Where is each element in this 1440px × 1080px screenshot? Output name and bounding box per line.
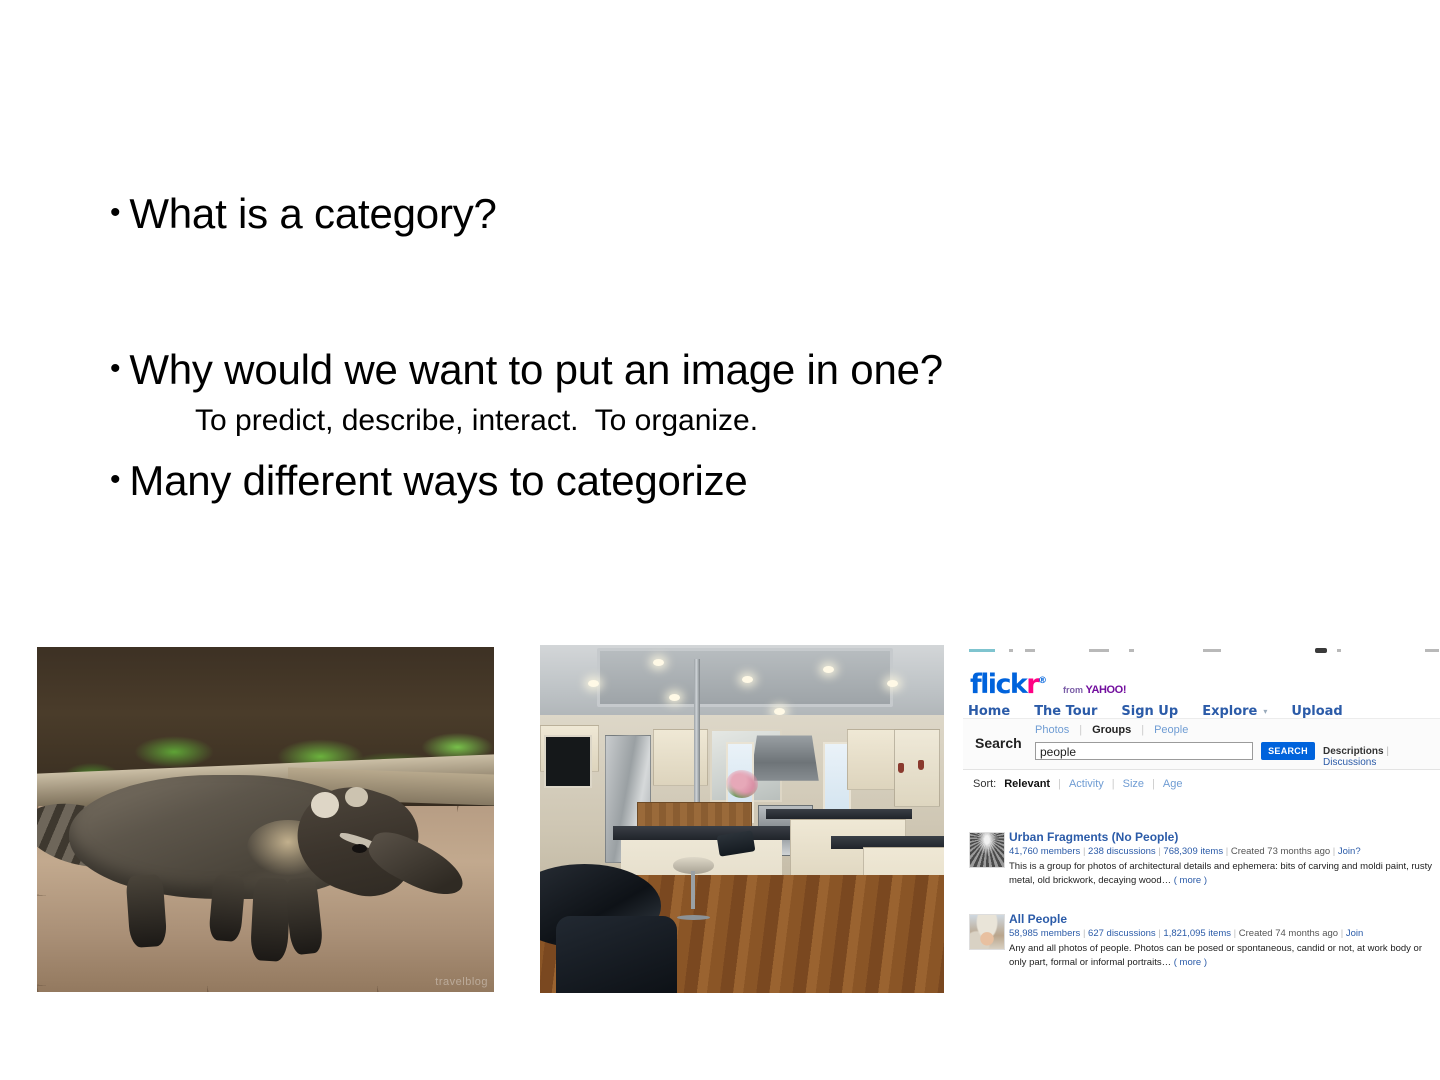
flickr-logo[interactable]: flickr® [970, 669, 1047, 700]
tab-separator: | [1079, 724, 1082, 736]
dining-chair [556, 916, 677, 993]
group-thumbnail-icon[interactable] [969, 832, 1005, 868]
tab-separator: | [1141, 724, 1144, 736]
link-separator: | [1386, 746, 1389, 757]
coati-ear [311, 792, 338, 818]
group-created-date: Created 73 months ago [1231, 846, 1330, 857]
recessed-light [653, 659, 664, 666]
tab-groups[interactable]: Groups [1092, 724, 1131, 736]
decorative-vase [918, 760, 924, 770]
group-title-link[interactable]: Urban Fragments (No People) [1009, 830, 1439, 845]
photo-flickr-group-search-screenshot: flickr® from YAHOO! Home The Tour Sign U… [963, 646, 1440, 993]
meta-separator: | [1158, 846, 1160, 857]
group-description-text: This is a group for photos of architectu… [1009, 861, 1432, 886]
upper-cabinet [847, 729, 897, 790]
bullet-text-3: Many different ways to categorize [129, 457, 1290, 505]
flickr-search-bar: Search Photos | Groups | People people S… [963, 718, 1440, 770]
group-join-link[interactable]: Join [1346, 928, 1363, 939]
sort-row: Sort: Relevant | Activity | Size | Age [973, 778, 1183, 790]
slide-body: • What is a category? • Why would we wan… [110, 190, 1290, 505]
bullet-item-3: • Many different ways to categorize [110, 457, 1290, 505]
search-input[interactable]: people [1035, 742, 1253, 760]
coati-leg [126, 874, 168, 949]
group-result-row[interactable]: Urban Fragments (No People) 41,760 membe… [1009, 830, 1439, 888]
tab-photos[interactable]: Photos [1035, 724, 1069, 736]
spacer-3 [110, 439, 1290, 457]
group-discussions-count[interactable]: 238 discussions [1088, 846, 1156, 857]
sort-separator: | [1112, 778, 1115, 790]
link-discussions[interactable]: Discussions [1323, 757, 1376, 768]
meta-separator: | [1083, 846, 1085, 857]
sort-option-activity[interactable]: Activity [1069, 778, 1104, 790]
group-members-count[interactable]: 41,760 members [1009, 846, 1080, 857]
flickr-logo-blue: flick [970, 669, 1026, 700]
meta-separator: | [1333, 846, 1335, 857]
more-link[interactable]: ( more ) [1174, 957, 1207, 968]
nav-item-the-tour[interactable]: The Tour [1034, 704, 1097, 719]
flickr-logo-pink: r [1026, 669, 1038, 700]
bar-stool [673, 857, 713, 920]
link-descriptions[interactable]: Descriptions [1323, 746, 1384, 757]
recessed-light [823, 666, 834, 673]
toolbar-fragment [969, 649, 995, 652]
counter-top-right [766, 809, 911, 819]
from-yahoo-badge: from YAHOO! [1063, 684, 1126, 696]
toolbar-fragment [1089, 649, 1109, 652]
toolbar-fragment [1337, 649, 1341, 652]
sort-separator: | [1152, 778, 1155, 790]
bullet-marker-icon: • [110, 346, 120, 391]
group-result-row[interactable]: All People 58,985 members | 627 discussi… [1009, 912, 1439, 970]
photo-coati-animal: travelblog [37, 647, 494, 992]
group-description: Any and all photos of people. Photos can… [1009, 942, 1439, 970]
group-items-count[interactable]: 1,821,095 items [1163, 928, 1231, 939]
registered-mark-icon: ® [1038, 676, 1047, 686]
group-title-link[interactable]: All People [1009, 912, 1439, 927]
search-button[interactable]: SEARCH [1261, 742, 1315, 760]
meta-separator: | [1226, 846, 1228, 857]
group-description: This is a group for photos of architectu… [1009, 860, 1439, 888]
kitchen-television [544, 735, 592, 788]
recessed-light [669, 694, 680, 701]
group-join-link[interactable]: Join? [1338, 846, 1361, 857]
photo-kitchen-interior [540, 645, 944, 993]
toolbar-fragment [1425, 649, 1439, 652]
group-meta: 41,760 members | 238 discussions | 768,3… [1009, 845, 1439, 859]
photo-watermark: travelblog [435, 976, 488, 988]
bullet-item-2: • Why would we want to put an image in o… [110, 346, 1290, 394]
toolbar-fragment [1009, 649, 1013, 652]
bullet-text-1: What is a category? [129, 190, 1290, 238]
bullet-text-2: Why would we want to put an image in one… [129, 346, 1290, 394]
spacer-1 [110, 238, 1290, 346]
from-label: from [1063, 685, 1083, 695]
coati-eye [352, 844, 367, 853]
tab-people[interactable]: People [1154, 724, 1188, 736]
sort-option-size[interactable]: Size [1123, 778, 1144, 790]
range-hood [750, 735, 819, 780]
group-discussions-count[interactable]: 627 discussions [1088, 928, 1156, 939]
group-created-date: Created 74 months ago [1239, 928, 1338, 939]
meta-separator: | [1234, 928, 1236, 939]
nav-item-sign-up[interactable]: Sign Up [1121, 704, 1178, 719]
sort-label: Sort: [973, 778, 996, 790]
sub-bullet-text: To predict, describe, interact. To organ… [195, 403, 1290, 439]
bullet-marker-icon: • [110, 457, 120, 502]
group-members-count[interactable]: 58,985 members [1009, 928, 1080, 939]
flickr-main-nav: Home The Tour Sign Up Explore ▾ Upload [968, 704, 1343, 719]
flower-vase [726, 770, 758, 798]
search-label: Search [975, 735, 1022, 751]
search-result-type-links: Descriptions | Discussions [1323, 746, 1440, 768]
bullet-item-1: • What is a category? [110, 190, 1290, 238]
meta-separator: | [1083, 928, 1085, 939]
toolbar-fragment [1129, 649, 1134, 652]
yahoo-wordmark: YAHOO! [1086, 684, 1127, 696]
recessed-light [774, 708, 785, 715]
nav-item-explore[interactable]: Explore [1202, 704, 1257, 719]
spacer-2 [110, 395, 1290, 403]
group-description-text: Any and all photos of people. Photos can… [1009, 943, 1422, 968]
sort-separator: | [1058, 778, 1061, 790]
group-items-count[interactable]: 768,309 items [1163, 846, 1223, 857]
toolbar-fragment [1315, 648, 1327, 653]
bullet-marker-icon: • [110, 190, 120, 235]
group-meta: 58,985 members | 627 discussions | 1,821… [1009, 927, 1439, 941]
sort-option-age[interactable]: Age [1163, 778, 1183, 790]
chevron-down-icon[interactable]: ▾ [1263, 707, 1267, 716]
toolbar-fragment [1203, 649, 1221, 652]
meta-separator: | [1341, 928, 1343, 939]
sort-option-relevant[interactable]: Relevant [1004, 778, 1050, 790]
stool-base [677, 915, 709, 920]
decorative-vase [898, 763, 904, 773]
flickr-header: flickr® from YAHOO! Home The Tour Sign U… [963, 656, 1440, 716]
nav-item-home[interactable]: Home [968, 704, 1010, 719]
stool-post [691, 871, 694, 909]
coati-leg [250, 877, 291, 962]
island-counter-top [613, 826, 791, 840]
nav-item-upload[interactable]: Upload [1291, 704, 1342, 719]
group-thumbnail-icon[interactable] [969, 914, 1005, 950]
meta-separator: | [1158, 928, 1160, 939]
search-scope-tabs: Photos | Groups | People [1035, 724, 1188, 736]
coati-leg [208, 873, 246, 941]
toolbar-fragment [1025, 649, 1035, 652]
more-link[interactable]: ( more ) [1174, 875, 1207, 886]
